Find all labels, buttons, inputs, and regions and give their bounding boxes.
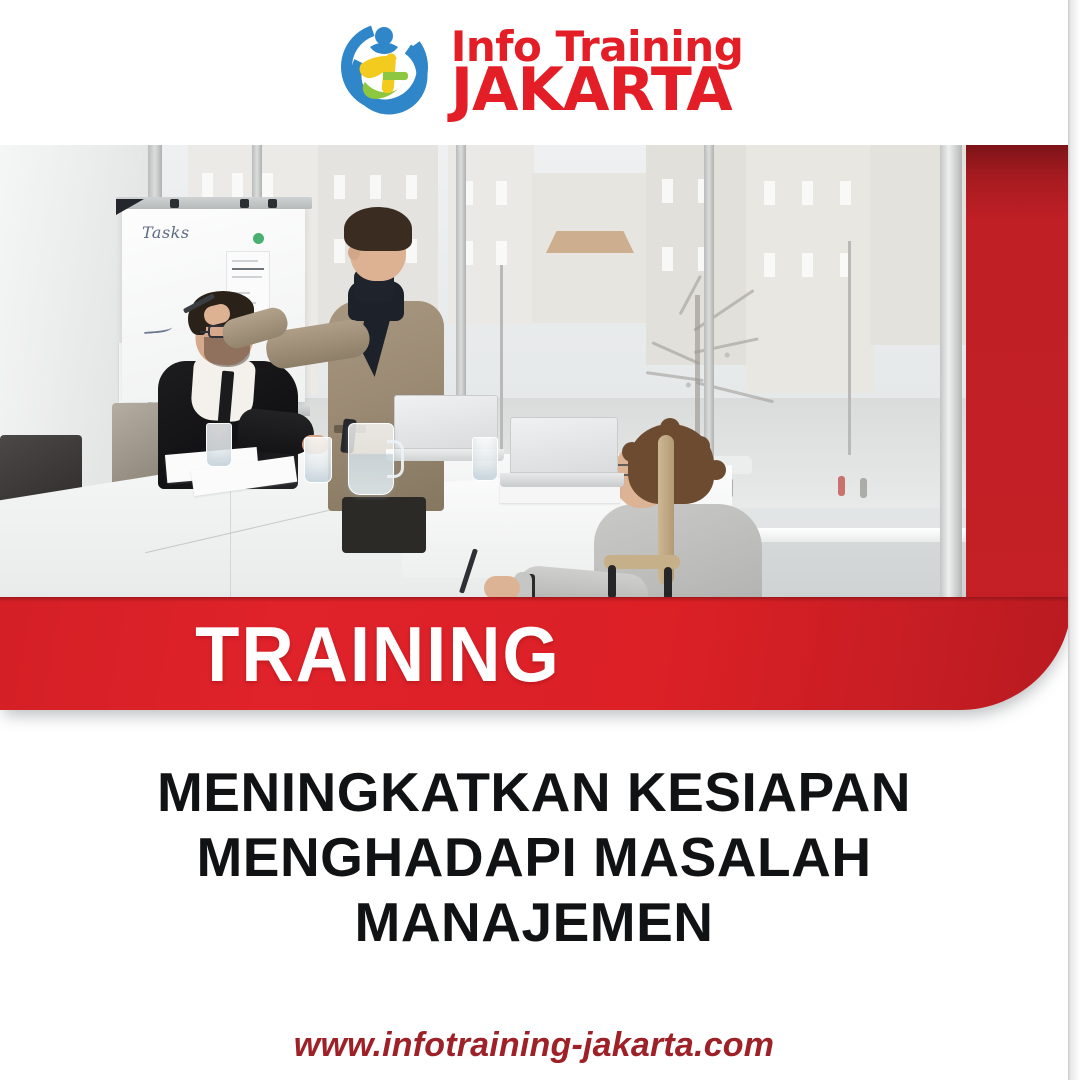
flipchart-rail [116,197,312,209]
red-side-band [966,145,1078,610]
hero-photo: Tasks [0,145,966,600]
brand-logo-wordmark: Info Training JAKARTA [451,26,744,118]
pedestrian [860,478,867,498]
whiteboard-heading: Tasks [142,223,190,242]
window-mullion [940,145,962,600]
banner-title: TRAINING [38,615,1035,693]
brand-line-2: JAKARTA [451,63,732,118]
street-lamp [848,241,851,455]
flipchart-clip [170,199,179,208]
banner-top-shading [0,597,1072,602]
drinking-glass [304,437,332,483]
flipchart-clip [268,199,277,208]
table-seam [230,491,231,600]
headline-line-3: MANAJEMEN [0,890,1068,955]
website-url[interactable]: www.infotraining-jakarta.com [0,1026,1068,1065]
info-training-jakarta-logo-icon [337,20,441,124]
trousers [342,497,426,553]
city-roof [546,231,634,253]
flipchart-clip [240,199,249,208]
headline-line-2: MENGHADAPI MASALAH [0,825,1068,890]
training-banner: TRAINING [0,597,1072,710]
drinking-glass [472,437,498,481]
pedestrian [838,476,845,496]
water-jug [348,423,394,495]
green-magnet-dot [253,233,264,244]
headline: MENINGKATKAN KESIAPAN MENGHADAPI MASALAH… [0,760,1068,955]
drinking-glass [206,423,232,467]
hero-photo-scene: Tasks [0,145,966,600]
second-laptop [500,417,624,493]
poster-canvas: Info Training JAKARTA [0,0,1080,1080]
page-right-edge [1068,0,1080,1080]
hair [344,207,412,251]
brand-logo: Info Training JAKARTA [0,12,1080,132]
headline-line-1: MENINGKATKAN KESIAPAN [0,760,1068,825]
